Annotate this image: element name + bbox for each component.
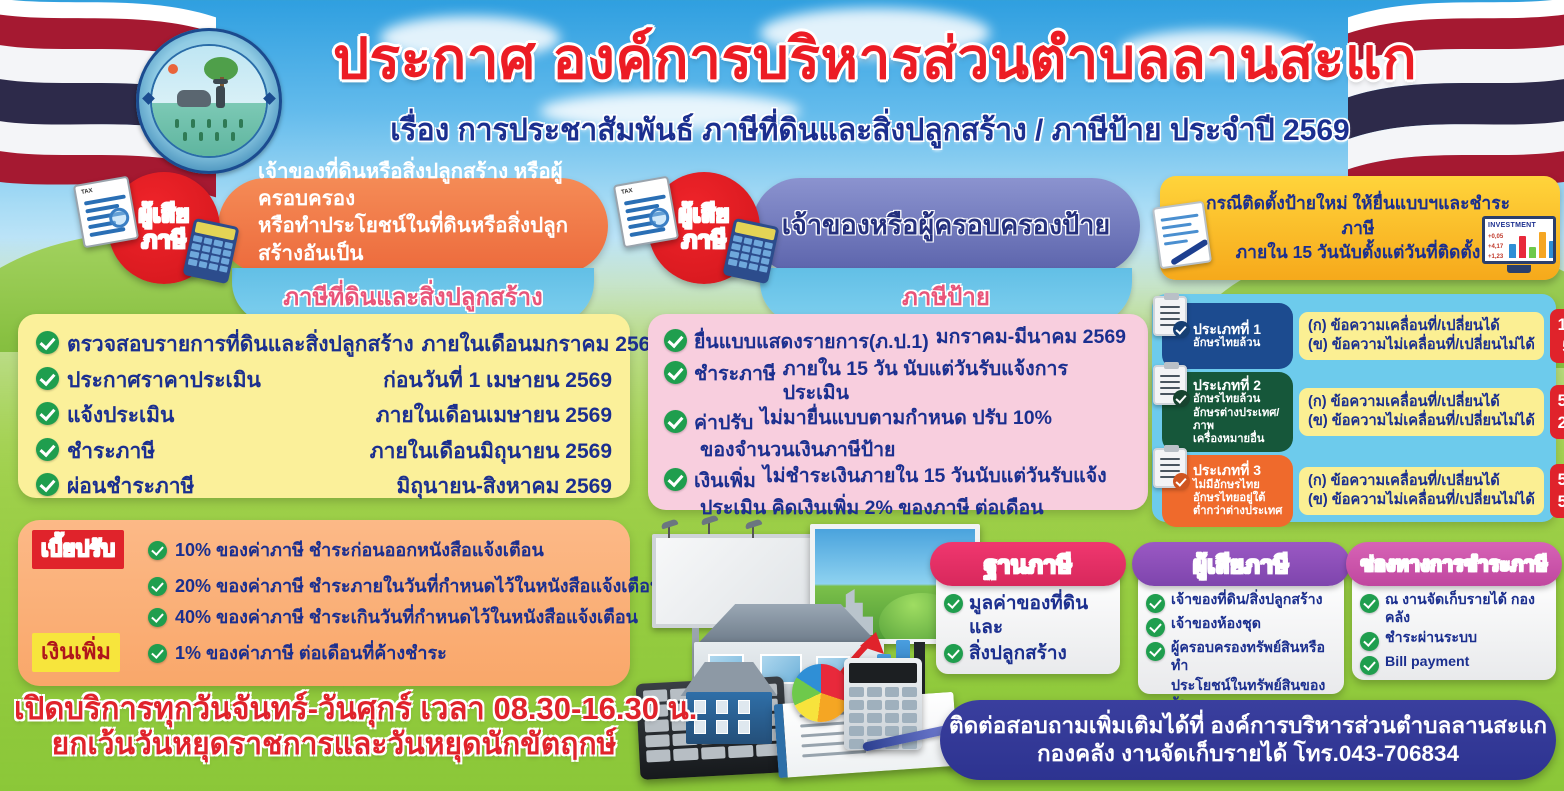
ledger-icon	[1152, 201, 1212, 270]
schedule-when: ก่อนวันที่ 1 เมษายน 2569	[383, 364, 612, 397]
monitor-bars	[1509, 228, 1556, 258]
item-label: ผู้ครอบครองทรัพย์สินหรือทำ	[1171, 640, 1336, 675]
seal-rice-icon	[239, 119, 243, 128]
new-sign-notice: กรณีติดตั้งป้ายใหม่ ให้ยื่นแบบฯและชำระภา…	[1160, 176, 1560, 280]
check-icon	[148, 644, 167, 663]
page-title: ประกาศ องค์การบริหารส่วนตำบลลานสะแก	[300, 30, 1450, 90]
penalty-panel: เบี้ยปรับ 10% ของค่าภาษี ชำระก่อนออกหนัง…	[18, 520, 630, 686]
check-icon	[36, 331, 59, 354]
type-rules: (ก) ข้อความเคลื่อนที่/เปลี่ยนได้ (ข) ข้อ…	[1299, 388, 1544, 437]
sign-term: ชำระภาษี	[694, 358, 776, 389]
seal-paddy-field	[152, 103, 266, 156]
check-icon	[1146, 594, 1165, 613]
schedule-label: ชำระภาษี	[67, 435, 362, 468]
doc-tax-label: TAX	[621, 188, 633, 196]
list-item: เงินเพิ่ม ไม่ชำระเงินภายใน 15 วันนับแต่ว…	[664, 465, 1132, 496]
payment-channel-title: ช่องทางการชำระภาษี	[1346, 542, 1562, 586]
schedule-when: มิถุนายน-สิงหาคม 2569	[396, 470, 612, 503]
rate-a: 52	[1550, 390, 1564, 412]
seal-rice-icon	[175, 119, 179, 128]
table-row: ประเภทที่ 2 อักษรไทยล้วน อักษรต่างประเทศ…	[1162, 372, 1546, 452]
badge-line-1: ผู้เสีย	[139, 202, 190, 228]
monitor-values: +0,05+4,17+1,23	[1488, 232, 1503, 263]
contact-line-1: ติดต่อสอบถามเพิ่มเติมได้ที่ องค์การบริหา…	[949, 712, 1547, 740]
type-rules: (ก) ข้อความเคลื่อนที่/เปลี่ยนได้ (ข) ข้อ…	[1299, 312, 1544, 361]
table-row: ประเภทที่ 3 ไม่มีอักษรไทย อักษรไทยอยู่ใต…	[1162, 455, 1546, 527]
type-title: ประเภทที่ 3	[1193, 463, 1286, 479]
type-subtitle: ไม่มีอักษรไทย	[1193, 479, 1286, 492]
list-item: สิ่งปลูกสร้าง	[944, 642, 1112, 666]
fine-item: 10% ของค่าภาษี ชำระก่อนออกหนังสือแจ้งเตื…	[175, 535, 544, 564]
org-seal-logo	[136, 28, 282, 174]
monitor-stand	[1507, 265, 1531, 273]
seal-buffalo-icon	[177, 90, 211, 107]
item-label: ณ งานจัดเก็บรายได้ กองคลัง	[1385, 592, 1548, 627]
contact-line-2: กองคลัง งานจัดเก็บรายได้ โทร.043-706834	[1037, 740, 1459, 768]
check-icon	[36, 367, 59, 390]
seal-rice-icon	[215, 132, 219, 141]
seal-rice-icon	[199, 132, 203, 141]
list-item: ณ งานจัดเก็บรายได้ กองคลัง	[1360, 592, 1548, 627]
type-subtitle: เครื่องหมายอื่น	[1193, 433, 1286, 446]
surcharge-item: 1% ของค่าภาษี ต่อเดือนที่ค้างชำระ	[175, 638, 447, 667]
rate-badge: 52 50	[1550, 464, 1564, 518]
pie-chart-graphic	[792, 664, 850, 722]
billboard-lamp-icon	[668, 526, 670, 538]
sign-desc-continuation: ของจำนวนเงินภาษีป้าย	[700, 439, 1132, 463]
check-icon	[1360, 594, 1379, 613]
type-subtitle: อักษรไทยล้วน	[1193, 337, 1286, 350]
service-hours: เปิดบริการทุกวันจันทร์-วันศุกร์ เวลา 08.…	[14, 690, 654, 763]
rule-b: (ข) ข้อความไม่เคลื่อนที่/เปลี่ยนไม่ได้	[1308, 491, 1535, 510]
check-icon	[36, 402, 59, 425]
land-tax-schedule-panel: ตรวจสอบรายการที่ดินและสิ่งปลูกสร้าง ภายใ…	[18, 314, 630, 498]
land-desc-line-2: หรือทำประโยชน์ในที่ดินหรือสิ่งปลูกสร้างอ…	[258, 212, 582, 266]
item-label: เจ้าของห้องชุด	[1171, 616, 1261, 634]
list-item: ตรวจสอบรายการที่ดินและสิ่งปลูกสร้าง ภายใ…	[36, 328, 612, 361]
rate-a: 52	[1550, 469, 1564, 491]
magnifier-icon	[108, 206, 131, 229]
sign-term: ค่าปรับ	[694, 407, 753, 438]
check-badge-icon	[1173, 321, 1190, 338]
taxpayer-box-items: เจ้าของที่ดิน/สิ่งปลูกสร้าง เจ้าของห้องช…	[1138, 570, 1344, 719]
notice-line-1: กรณีติดตั้งป้ายใหม่ ให้ยื่นแบบฯและชำระภา…	[1202, 191, 1514, 240]
notice-line-2: ภายใน 15 วันนับตั้งแต่วันที่ติดตั้ง	[1202, 240, 1514, 265]
list-item: ประกาศราคาประเมิน ก่อนวันที่ 1 เมษายน 25…	[36, 364, 612, 397]
taxpayer-description-land: เจ้าของที่ดินหรือสิ่งปลูกสร้าง หรือผู้คร…	[218, 178, 608, 274]
item-label: เจ้าของที่ดิน/สิ่งปลูกสร้าง	[1171, 592, 1323, 610]
badge-line-1: ผู้เสีย	[679, 202, 730, 228]
list-item: 40% ของค่าภาษี ชำระเกินวันที่กำหนดไว้ในห…	[32, 602, 616, 631]
check-icon	[664, 329, 687, 352]
model-house-body	[686, 692, 772, 744]
sign-type-rates-panel: ประเภทที่ 1 อักษรไทยล้วน (ก) ข้อความเคลื…	[1152, 294, 1556, 522]
type-subtitle: ต่ำกว่าต่างประเทศ	[1193, 505, 1286, 518]
tab-label-land-tax: ภาษีที่ดินและสิ่งปลูกสร้าง	[283, 277, 543, 316]
fine-tag-cell: เบี้ยปรับ	[32, 530, 140, 569]
billboard-lamp-icon	[708, 522, 710, 534]
list-item: ผู้ครอบครองทรัพย์สินหรือทำ	[1146, 640, 1336, 675]
schedule-label: ตรวจสอบรายการที่ดินและสิ่งปลูกสร้าง	[67, 328, 414, 361]
calculator-screen	[849, 663, 917, 683]
clipboard-check-icon	[1153, 448, 1187, 488]
contact-banner: ติดต่อสอบถามเพิ่มเติมได้ที่ องค์การบริหา…	[940, 700, 1556, 780]
clipboard-check-icon	[1153, 365, 1187, 405]
sign-type-tag-3: ประเภทที่ 3 ไม่มีอักษรไทย อักษรไทยอยู่ใต…	[1162, 455, 1293, 527]
list-item: ชำระผ่านระบบ	[1360, 630, 1548, 651]
billboard-lamp-icon	[752, 526, 754, 538]
rate-badge: 52 26	[1550, 385, 1564, 439]
list-item: ยื่นแบบแสดงรายการ(ภ.ป.1) มกราคม-มีนาคม 2…	[664, 326, 1132, 357]
schedule-when: ภายในเดือนมกราคม 2569	[422, 328, 662, 361]
check-icon	[944, 594, 963, 613]
hours-line-2: ยกเว้นวันหยุดราชการและวันหยุดนักขัตฤกษ์	[14, 727, 654, 763]
rule-a: (ก) ข้อความเคลื่อนที่/เปลี่ยนได้	[1308, 472, 1535, 491]
seal-rice-icon	[207, 119, 211, 128]
check-icon	[944, 644, 963, 663]
seal-rice-icon	[231, 132, 235, 141]
sign-desc: มกราคม-มีนาคม 2569	[936, 326, 1126, 350]
rule-b: (ข) ข้อความไม่เคลื่อนที่/เปลี่ยนไม่ได้	[1308, 336, 1535, 355]
rate-a: 10	[1550, 314, 1564, 336]
seal-rice-icon	[191, 119, 195, 128]
seal-sun-icon	[168, 64, 178, 74]
payment-channel-items: ณ งานจัดเก็บรายได้ กองคลัง ชำระผ่านระบบ …	[1352, 570, 1556, 684]
seal-rice-icon	[183, 132, 187, 141]
payment-channel-box: ช่องทางการชำระภาษี ณ งานจัดเก็บรายได้ กอ…	[1352, 570, 1556, 680]
monitor-screen: INVESTMENT +0,05+4,17+1,23	[1482, 216, 1556, 264]
list-item: ชำระภาษี ภายใน 15 วัน นับแต่วันรับแจ้งกา…	[664, 358, 1132, 406]
type-subtitle: อักษรต่างประเทศ/ภาพ	[1193, 407, 1286, 433]
list-item: เจ้าของห้องชุด	[1146, 616, 1336, 637]
check-icon	[664, 468, 687, 491]
sign-desc: ไม่มายื่นแบบตามกำหนด ปรับ 10%	[760, 407, 1052, 431]
seal-inner	[152, 46, 266, 156]
check-icon	[1146, 642, 1165, 661]
sign-term: เงินเพิ่ม	[694, 465, 756, 496]
check-icon	[36, 473, 59, 496]
fine-item: 20% ของค่าภาษี ชำระภายในวันที่กำหนดไว้ใน…	[175, 571, 662, 600]
tax-document-icon: TAX	[613, 176, 679, 249]
type-title: ประเภทที่ 1	[1193, 322, 1286, 338]
schedule-label: แจ้งประเมิน	[67, 399, 368, 432]
type-rules: (ก) ข้อความเคลื่อนที่/เปลี่ยนได้ (ข) ข้อ…	[1299, 467, 1544, 516]
type-title: ประเภทที่ 2	[1193, 378, 1286, 394]
badge-line-2: ภาษี	[681, 228, 726, 254]
item-label: สิ่งปลูกสร้าง	[969, 642, 1067, 666]
doc-tax-label: TAX	[81, 188, 93, 196]
rate-b: 50	[1550, 491, 1564, 513]
rule-a: (ก) ข้อความเคลื่อนที่/เปลี่ยนได้	[1308, 393, 1535, 412]
sign-tax-schedule-panel: ยื่นแบบแสดงรายการ(ภ.ป.1) มกราคม-มีนาคม 2…	[648, 314, 1148, 510]
list-item: ผ่อนชำระภาษี มิถุนายน-สิงหาคม 2569	[36, 470, 612, 503]
calculator-keys	[188, 235, 233, 273]
tax-illustration	[630, 512, 960, 782]
list-item: เงินเพิ่ม 1% ของค่าภาษี ต่อเดือนที่ค้างช…	[32, 633, 616, 672]
rate-b: 26	[1550, 412, 1564, 434]
type-subtitle: อักษรไทยล้วน	[1193, 393, 1286, 406]
surcharge-tag-cell: เงินเพิ่ม	[32, 633, 140, 672]
sign-type-tag-1: ประเภทที่ 1 อักษรไทยล้วน	[1162, 303, 1293, 369]
item-label: Bill payment	[1385, 654, 1469, 672]
list-item: มูลค่าของที่ดินและ	[944, 592, 1112, 639]
list-item: ชำระภาษี ภายในเดือนมิถุนายน 2569	[36, 435, 612, 468]
taxpayer-description-sign: เจ้าของหรือผู้ครอบครองป้าย	[752, 178, 1140, 274]
tax-document-icon: TAX	[73, 176, 139, 249]
sign-desc: ไม่ชำระเงินภายใน 15 วันนับแต่วันรับแจ้ง	[763, 465, 1107, 489]
check-badge-icon	[1173, 473, 1190, 490]
schedule-when: ภายในเดือนมิถุนายน 2569	[370, 435, 612, 468]
check-icon	[36, 438, 59, 461]
sign-desc: ภายใน 15 วัน นับแต่วันรับแจ้งการประเมิน	[783, 358, 1132, 406]
calculator-keys	[728, 235, 773, 273]
check-badge-icon	[1173, 390, 1190, 407]
seal-rice-icon	[223, 119, 227, 128]
sign-desc-line-1: เจ้าของหรือผู้ครอบครองป้าย	[782, 208, 1110, 244]
rule-a: (ก) ข้อความเคลื่อนที่/เปลี่ยนได้	[1308, 317, 1535, 336]
hours-line-1: เปิดบริการทุกวันจันทร์-วันศุกร์ เวลา 08.…	[14, 690, 654, 727]
fine-item: 40% ของค่าภาษี ชำระเกินวันที่กำหนดไว้ในห…	[175, 602, 638, 631]
sign-type-tag-2: ประเภทที่ 2 อักษรไทยล้วน อักษรต่างประเทศ…	[1162, 372, 1293, 452]
list-item: Bill payment	[1360, 654, 1548, 675]
investment-monitor-icon: INVESTMENT +0,05+4,17+1,23	[1482, 216, 1556, 278]
surcharge-tag: เงินเพิ่ม	[32, 633, 120, 672]
tax-base-box: ฐานภาษี มูลค่าของที่ดินและ สิ่งปลูกสร้าง	[936, 570, 1120, 674]
check-icon	[148, 608, 167, 627]
rule-b: (ข) ข้อความไม่เคลื่อนที่/เปลี่ยนไม่ได้	[1308, 412, 1535, 431]
magnifier-icon	[648, 206, 671, 229]
check-icon	[1360, 656, 1379, 675]
taxpayer-box-title: ผู้เสียภาษี	[1132, 542, 1350, 586]
check-icon	[664, 361, 687, 384]
seal-farmer-icon	[216, 86, 225, 108]
poster-header: ประกาศ องค์การบริหารส่วนตำบลลานสะแก เรื่…	[0, 6, 1564, 166]
check-icon	[148, 541, 167, 560]
rate-b: 5	[1550, 336, 1564, 358]
list-item: เจ้าของที่ดิน/สิ่งปลูกสร้าง	[1146, 592, 1336, 613]
table-row: ประเภทที่ 1 อักษรไทยล้วน (ก) ข้อความเคลื…	[1162, 303, 1546, 369]
check-icon	[1146, 618, 1165, 637]
tab-label-sign-tax: ภาษีป้าย	[902, 277, 990, 316]
schedule-when: ภายในเดือนเมษายน 2569	[376, 399, 612, 432]
check-icon	[1360, 632, 1379, 651]
badge-line-2: ภาษี	[141, 228, 186, 254]
clipboard-check-icon	[1153, 296, 1187, 336]
tax-base-title: ฐานภาษี	[930, 542, 1126, 586]
list-item: 20% ของค่าภาษี ชำระภายในวันที่กำหนดไว้ใน…	[32, 571, 616, 600]
check-icon	[148, 577, 167, 596]
type-subtitle: อักษรไทยอยู่ใต้	[1193, 492, 1286, 505]
list-item: แจ้งประเมิน ภายในเดือนเมษายน 2569	[36, 399, 612, 432]
check-icon	[664, 410, 687, 433]
item-label: มูลค่าของที่ดินและ	[969, 592, 1112, 639]
rate-badge: 10 5	[1550, 309, 1564, 363]
list-item: ค่าปรับ ไม่มายื่นแบบตามกำหนด ปรับ 10%	[664, 407, 1132, 438]
page-subtitle: เรื่อง การประชาสัมพันธ์ ภาษีที่ดินและสิ่…	[280, 114, 1460, 147]
sign-term: ยื่นแบบแสดงรายการ(ภ.ป.1)	[694, 326, 929, 357]
schedule-label: ประกาศราคาประเมิน	[67, 364, 375, 397]
fine-tag: เบี้ยปรับ	[32, 530, 124, 569]
land-desc-line-1: เจ้าของที่ดินหรือสิ่งปลูกสร้าง หรือผู้คร…	[258, 158, 582, 212]
item-label: ชำระผ่านระบบ	[1385, 630, 1477, 648]
list-item: เบี้ยปรับ 10% ของค่าภาษี ชำระก่อนออกหนัง…	[32, 530, 616, 569]
schedule-label: ผ่อนชำระภาษี	[67, 470, 388, 503]
taxpayer-box: ผู้เสียภาษี เจ้าของที่ดิน/สิ่งปลูกสร้าง …	[1138, 570, 1344, 694]
